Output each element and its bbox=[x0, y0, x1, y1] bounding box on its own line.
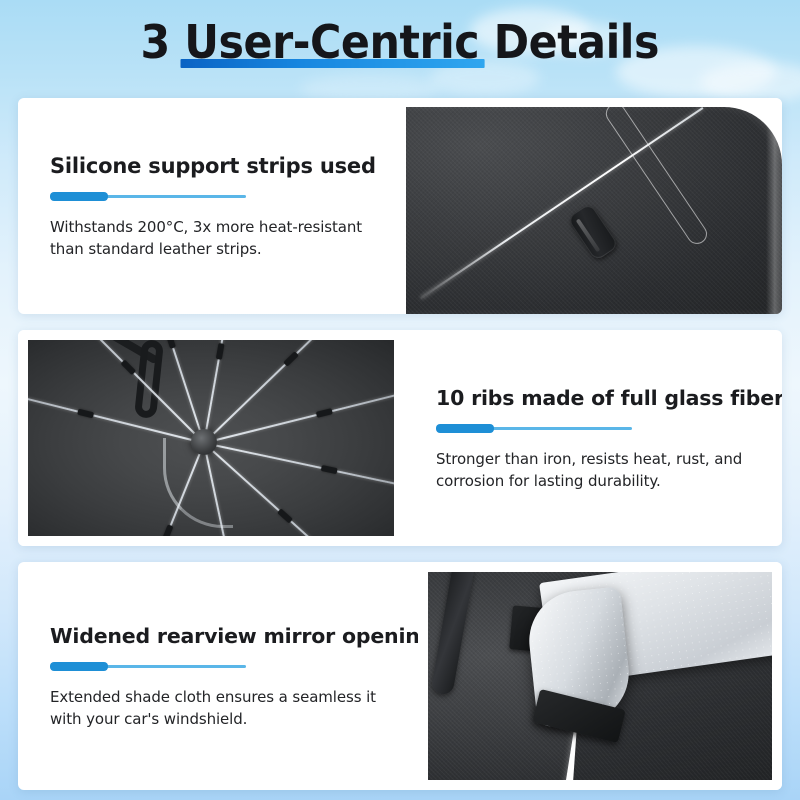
feature-heading: Silicone support strips used bbox=[50, 153, 392, 179]
feature-card-silicone-support-strips: Silicone support strips used Withstands … bbox=[18, 98, 782, 314]
feature-heading: 10 ribs made of full glass fiber bbox=[436, 385, 768, 411]
photo-inset-frame bbox=[28, 340, 394, 536]
accent-divider bbox=[436, 427, 632, 430]
feature-card-text-block: 10 ribs made of full glass fiber Stronge… bbox=[404, 330, 782, 546]
feature-description: Withstands 200°C, 3x more heat-resistant… bbox=[50, 216, 392, 260]
feature-photo-silicone-strip bbox=[406, 98, 782, 314]
infographic-page: 3 User-Centric Details Silicone support … bbox=[0, 0, 800, 800]
accent-divider bbox=[50, 665, 246, 668]
page-title-suffix: Details bbox=[479, 15, 659, 69]
feature-description: Extended shade cloth ensures a seamless … bbox=[50, 686, 404, 730]
feature-photo-umbrella-ribs bbox=[18, 330, 404, 546]
feature-heading: Widened rearview mirror opening bbox=[50, 623, 404, 649]
umbrella-rib bbox=[28, 369, 204, 444]
feature-card-text-block: Silicone support strips used Withstands … bbox=[18, 98, 406, 314]
feature-photo-mirror-opening bbox=[418, 562, 782, 790]
umbrella-rib bbox=[203, 340, 246, 443]
accent-divider bbox=[50, 195, 246, 198]
umbrella-rib bbox=[203, 368, 394, 444]
feature-card-rearview-mirror-opening: Widened rearview mirror opening Extended… bbox=[18, 562, 782, 790]
page-title-prefix: 3 bbox=[141, 15, 185, 69]
feature-card-text-block: Widened rearview mirror opening Extended… bbox=[18, 562, 418, 790]
photo-inset-frame bbox=[428, 572, 772, 780]
umbrella-rib bbox=[28, 340, 204, 444]
umbrella-hub-graphic bbox=[191, 429, 217, 455]
umbrella-rib bbox=[203, 340, 394, 444]
feature-description: Stronger than iron, resists heat, rust, … bbox=[436, 448, 768, 492]
page-title: 3 User-Centric Details bbox=[0, 14, 800, 70]
page-title-highlight: User-Centric bbox=[185, 14, 480, 70]
feature-card-glass-fiber-ribs: 10 ribs made of full glass fiber Stronge… bbox=[18, 330, 782, 546]
umbrella-canopy-graphic bbox=[28, 340, 394, 536]
